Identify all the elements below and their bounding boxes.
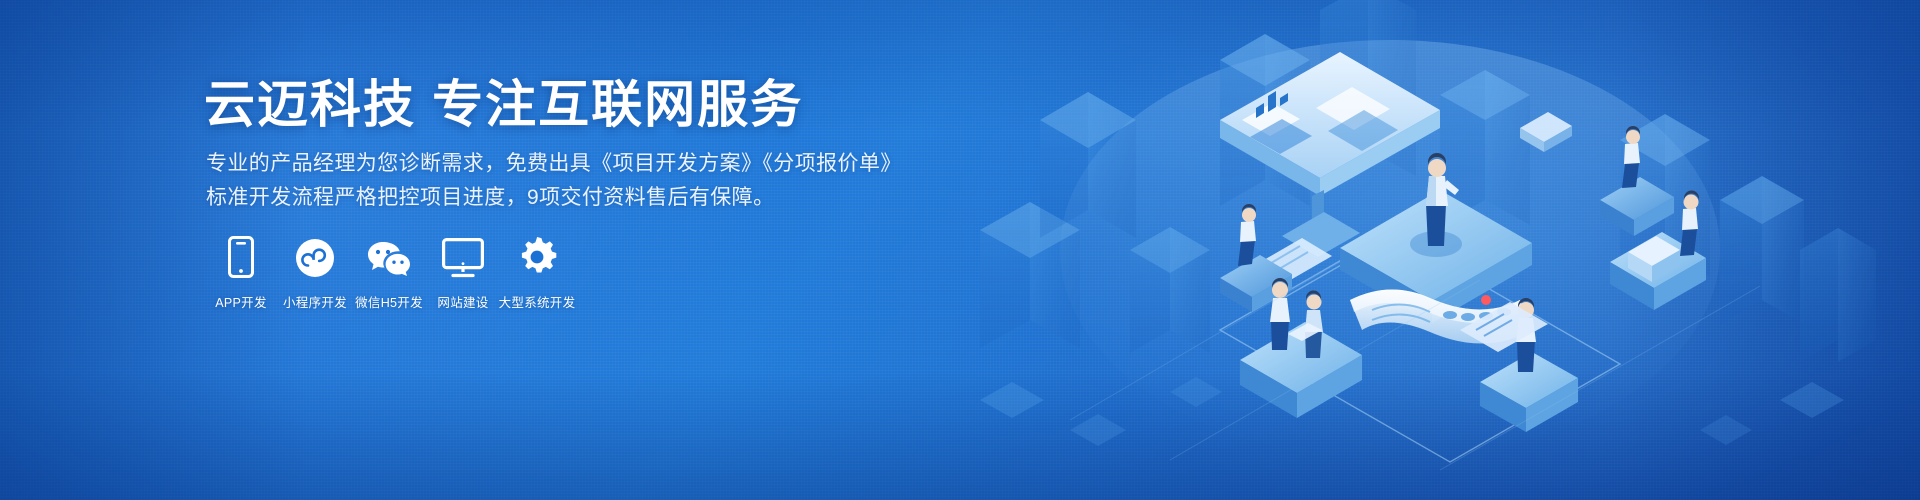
service-label-wechat-h5: 微信H5开发	[355, 292, 423, 311]
service-label-website: 网站建设	[437, 292, 488, 311]
service-item-miniprogram[interactable]: 小程序开发	[278, 232, 352, 311]
gear-icon	[516, 232, 558, 278]
hero-subtitle: 专业的产品经理为您诊断需求，免费出具《项目开发方案》《分项报价单》 标准开发流程…	[206, 147, 906, 215]
page-title: 云迈科技 专注互联网服务	[204, 74, 803, 135]
service-label-miniprogram: 小程序开发	[283, 292, 347, 311]
service-label-large-system: 大型系统开发	[499, 292, 576, 311]
service-item-website[interactable]: 网站建设	[426, 232, 500, 311]
desktop-monitor-icon	[442, 232, 484, 278]
service-item-wechat-h5[interactable]: 微信H5开发	[352, 232, 426, 311]
service-list: APP开发 小程序开发	[204, 232, 574, 311]
subtitle-line-1: 专业的产品经理为您诊断需求，免费出具《项目开发方案》《分项报价单》	[206, 147, 906, 181]
hero-content: 云迈科技 专注互联网服务 专业的产品经理为您诊断需求，免费出具《项目开发方案》《…	[204, 0, 964, 500]
service-item-app[interactable]: APP开发	[204, 232, 278, 311]
wechat-icon	[366, 232, 412, 278]
illustration-isometric-data-platform	[920, 0, 1920, 500]
service-item-large-system[interactable]: 大型系统开发	[500, 232, 574, 311]
service-label-app: APP开发	[215, 292, 267, 311]
hero-banner: 云迈科技 专注互联网服务 专业的产品经理为您诊断需求，免费出具《项目开发方案》《…	[0, 0, 1920, 500]
subtitle-line-2: 标准开发流程严格把控项目进度，9项交付资料售后有保障。	[206, 181, 906, 215]
wechat-miniprogram-icon	[295, 232, 335, 278]
mobile-phone-icon	[228, 232, 254, 278]
